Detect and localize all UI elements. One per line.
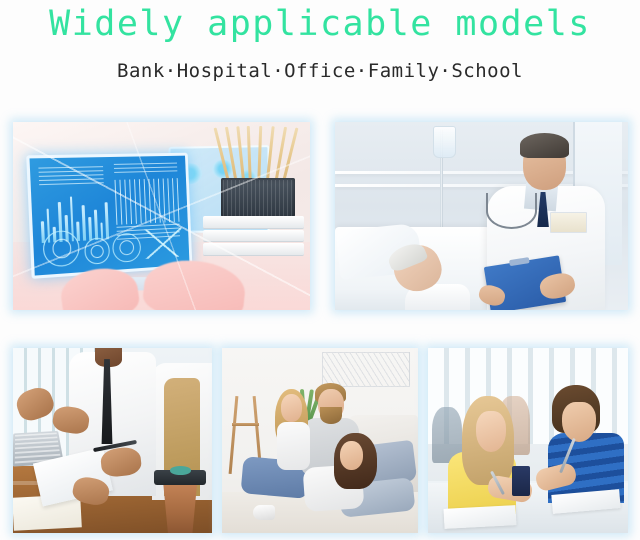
dashboard-gauge-icon	[112, 233, 141, 263]
mother-head	[340, 441, 364, 471]
gallery-image-bank[interactable]	[13, 122, 310, 310]
gallery-image-office[interactable]	[13, 348, 212, 533]
father-beard	[320, 407, 342, 424]
schoolgirl-head	[476, 411, 506, 452]
laptop-screen-dashboard	[26, 153, 193, 279]
scene-family	[222, 348, 418, 533]
page-subtitle: Bank·Hospital·Office·Family·School	[0, 58, 640, 84]
dashboard-line-chart	[114, 178, 182, 225]
clipboard-clip	[509, 257, 530, 266]
dashboard-gauge-icon	[43, 230, 81, 268]
page-title: Widely applicable models	[0, 2, 640, 46]
sneaker	[253, 505, 275, 520]
dashboard-text-block	[38, 166, 103, 186]
dashboard-text-block	[113, 162, 177, 175]
scene-bank	[13, 122, 310, 310]
scene-school	[428, 348, 628, 533]
dashboard-gauge-icon	[84, 238, 111, 265]
iv-bag	[433, 126, 456, 158]
dashboard-network-diagram	[142, 228, 182, 259]
doctor-hair	[520, 133, 570, 157]
coffee-cup-lid	[154, 470, 206, 485]
coat-pocket	[550, 212, 587, 233]
pencil-case	[512, 466, 530, 496]
scene-office	[13, 348, 212, 533]
daughter-head	[281, 394, 303, 422]
scene-hospital	[335, 122, 628, 310]
gallery-image-family[interactable]	[222, 348, 418, 533]
gallery-image-school[interactable]	[428, 348, 628, 533]
book-stack	[203, 216, 304, 261]
gallery-image-hospital[interactable]	[335, 122, 628, 310]
pencil-holder	[221, 178, 295, 219]
notebook	[444, 505, 517, 529]
wall-panel-divider	[370, 352, 410, 385]
header: Widely applicable models Bank·Hospital·O…	[0, 0, 640, 84]
daughter-torso	[277, 422, 310, 470]
